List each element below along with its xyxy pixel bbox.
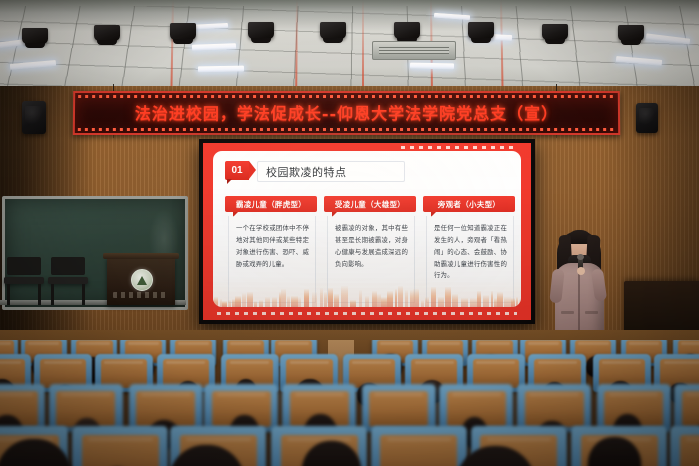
audience-seat — [670, 426, 699, 466]
banner-dot-border-bottom — [78, 128, 615, 131]
presenter-hand — [577, 267, 585, 275]
auditorium-photo: 法治进校园，学法促成长--仰恩大学法学院党总支（宣） 01 校园欺凌的特点 — [0, 0, 699, 466]
cityscape-haze — [213, 277, 521, 307]
seat-cushion — [380, 435, 457, 466]
school-crest-icon — [131, 269, 153, 291]
coat-pocket — [561, 311, 574, 314]
seat-cushion — [369, 391, 428, 427]
ceiling-speaker-box — [94, 25, 120, 41]
coat-pocket — [585, 311, 598, 314]
stage-chair — [48, 257, 88, 305]
presentation-slide: 01 校园欺凌的特点 霸凌儿童（胖虎型） 一个在学校或团体中不停地对其他同伴或某… — [203, 143, 531, 320]
projection-screen: 01 校园欺凌的特点 霸凌儿童（胖虎型） 一个在学校或团体中不停地对其他同伴或某… — [199, 139, 535, 324]
air-conditioner-vent — [372, 41, 456, 60]
banner-text: 法治进校园，学法促成长--仰恩大学法学院党总支（宣） — [75, 100, 618, 124]
slide-cityscape-graphic — [213, 259, 521, 307]
event-banner: 法治进校园，学法促成长--仰恩大学法学院党总支（宣） — [73, 91, 620, 135]
slide-title: 校园欺凌的特点 — [266, 164, 347, 180]
ceiling — [0, 0, 699, 92]
slide-dot-decoration-top — [401, 146, 517, 149]
audience-seat — [371, 426, 467, 466]
wall-speaker-icon — [636, 103, 658, 133]
audience-seat — [72, 426, 168, 466]
podium-top — [103, 253, 179, 259]
wall-speaker-icon — [22, 101, 46, 134]
banner-dot-border-top — [78, 95, 615, 98]
slide-badge-tail — [227, 179, 232, 184]
ceiling-speaker-box — [468, 22, 494, 39]
slide-dot-decoration-bottom — [217, 312, 517, 315]
ceiling-tile-grid — [0, 6, 699, 92]
stage-chair — [4, 257, 44, 305]
ceiling-light-panel — [410, 63, 454, 70]
ceiling-speaker-box — [22, 28, 48, 44]
ceiling-speaker-box — [248, 22, 274, 39]
audience-seat — [674, 384, 699, 432]
slide-title-box: 校园欺凌的特点 — [257, 161, 405, 182]
slide-section-badge: 01 — [225, 161, 249, 180]
ceiling-red-line — [362, 0, 364, 88]
ceiling-speaker-box — [618, 25, 644, 41]
audience-seating — [0, 340, 699, 466]
podium — [107, 257, 175, 305]
ceiling-light-panel — [198, 66, 244, 73]
seat-cushion — [680, 435, 699, 466]
slide-column-header: 受凌儿童（大雄型） — [324, 196, 416, 212]
ceiling-speaker-box — [320, 22, 346, 39]
seat-cushion — [682, 391, 699, 427]
ceiling-speaker-box — [542, 24, 568, 40]
podium-inscription — [113, 292, 169, 298]
slide-content-panel: 01 校园欺凌的特点 霸凌儿童（胖虎型） 一个在学校或团体中不停地对其他同伴或某… — [213, 151, 521, 307]
ceiling-speaker-box — [394, 22, 420, 39]
ceiling-speaker-box — [170, 23, 196, 40]
slide-column-header: 旁观者（小夫型） — [423, 196, 515, 212]
audience-seat — [362, 384, 436, 432]
seat-cushion — [82, 435, 159, 466]
slide-column-header: 霸凌儿童（胖虎型） — [225, 196, 317, 212]
